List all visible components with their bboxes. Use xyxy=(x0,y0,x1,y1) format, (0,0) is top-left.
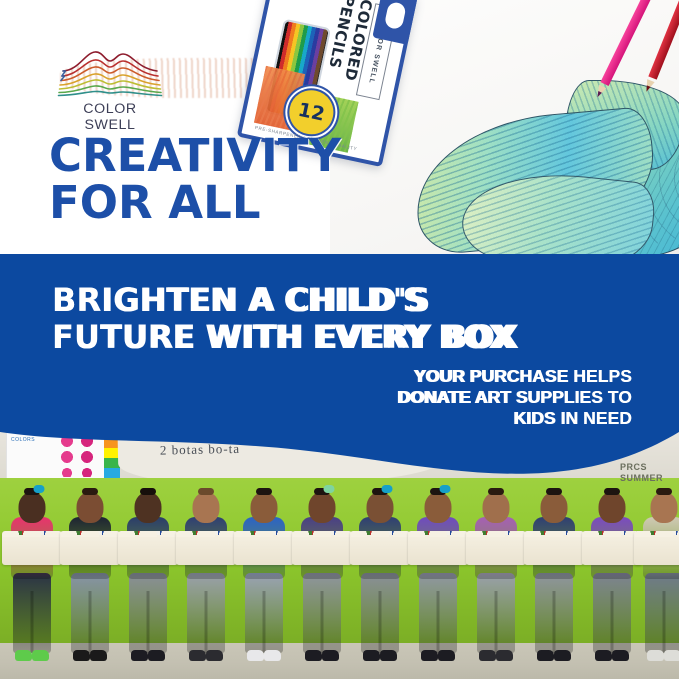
brand-logo: COLOR SWELL xyxy=(57,48,163,133)
leg-gap xyxy=(379,591,382,653)
child-shoe-right xyxy=(554,650,571,661)
supply-kit xyxy=(2,531,62,565)
hero-headline: CREATIVITY FOR ALL xyxy=(49,132,341,226)
child-hair-bow xyxy=(323,485,334,493)
supply-kit xyxy=(466,531,526,565)
banner-headline: BRIGHTEN A CHILD'S FUTURE WITH EVERY BOX xyxy=(52,282,519,356)
hero-headline-line2: FOR ALL xyxy=(49,179,341,226)
child-shoe-right xyxy=(612,650,629,661)
leg-gap xyxy=(495,591,498,653)
leg-gap xyxy=(437,591,440,653)
child-shoe-right xyxy=(496,650,513,661)
tshirt-text: PRCS SUMMER xyxy=(620,462,663,484)
kit-top-edge xyxy=(176,531,236,537)
kit-top-edge xyxy=(234,531,294,537)
kit-top-edge xyxy=(634,531,679,537)
child-head xyxy=(193,492,220,523)
leg-gap xyxy=(263,591,266,653)
child-legs xyxy=(361,573,399,653)
supply-kit xyxy=(582,531,642,565)
child-legs xyxy=(477,573,515,653)
banner-subtext-line2: DONATE ART SUPPLIES TO xyxy=(397,387,632,408)
child-hair xyxy=(488,488,504,495)
supply-kit xyxy=(634,531,679,565)
banner-subtext-line1: YOUR PURCHASE HELPS xyxy=(397,366,632,387)
child-head xyxy=(367,492,394,523)
child-legs xyxy=(535,573,573,653)
child-shoe-left xyxy=(247,650,264,661)
kit-top-edge xyxy=(118,531,178,537)
child-head xyxy=(541,492,568,523)
child-shoe-right xyxy=(90,650,107,661)
poster-label: COLORS xyxy=(11,437,35,443)
child-shoe-left xyxy=(189,650,206,661)
leg-gap xyxy=(205,591,208,653)
supply-kit xyxy=(176,531,236,565)
banner-headline-line2: FUTURE WITH EVERY BOX xyxy=(52,319,519,356)
child-shoe-right xyxy=(664,650,679,661)
supply-kit xyxy=(524,531,584,565)
child-head xyxy=(599,492,626,523)
supply-kit xyxy=(234,531,294,565)
child-head xyxy=(651,492,678,523)
leg-gap xyxy=(89,591,92,653)
child-hair xyxy=(546,488,562,495)
leg-gap xyxy=(321,591,324,653)
child-shoe-right xyxy=(206,650,223,661)
child-legs xyxy=(245,573,283,653)
child-hair xyxy=(82,488,98,495)
banner-subtext-line3: KIDS IN NEED xyxy=(397,408,632,429)
tshirt-text-line1: PRCS xyxy=(620,462,663,473)
kit-top-edge xyxy=(2,531,62,537)
child-shoe-left xyxy=(537,650,554,661)
kit-top-edge xyxy=(524,531,584,537)
kit-top-edge xyxy=(350,531,410,537)
classroom-photo: COLORS 2 botas bo-ta xyxy=(0,430,679,679)
poster-dots xyxy=(57,433,105,477)
child-legs xyxy=(13,573,51,653)
child-shoe-left xyxy=(479,650,496,661)
child-legs xyxy=(645,573,679,653)
supply-kit xyxy=(292,531,352,565)
tshirt-text-line2: SUMMER xyxy=(620,473,663,484)
child-hair xyxy=(256,488,272,495)
box-hang-tab xyxy=(372,0,417,45)
child-shoe-right xyxy=(380,650,397,661)
child-legs xyxy=(303,573,341,653)
product-hero-section: COLOR SWELL COLORED PENCILS 12 PRE-SHARP… xyxy=(0,0,679,256)
child-shoe-right xyxy=(438,650,455,661)
child-shoe-right xyxy=(264,650,281,661)
child-head xyxy=(135,492,162,523)
advertisement-banner: COLOR SWELL COLORED PENCILS 12 PRE-SHARP… xyxy=(0,0,679,679)
box-hang-slot xyxy=(384,1,407,30)
color-swell-wave-mark xyxy=(57,48,163,100)
child-shoe-right xyxy=(32,650,49,661)
wall-poster: COLORS xyxy=(6,430,110,482)
child-shoe-right xyxy=(148,650,165,661)
child-head xyxy=(309,492,336,523)
child-head xyxy=(77,492,104,523)
mission-banner: BRIGHTEN A CHILD'S FUTURE WITH EVERY BOX… xyxy=(0,254,679,459)
kit-top-edge xyxy=(292,531,352,537)
child-legs xyxy=(71,573,109,653)
kit-top-edge xyxy=(60,531,120,537)
child-shoe-left xyxy=(305,650,322,661)
child-shoe-left xyxy=(363,650,380,661)
child-hair xyxy=(140,488,156,495)
child-head xyxy=(251,492,278,523)
child-shoe-left xyxy=(647,650,664,661)
child-shoe-left xyxy=(595,650,612,661)
supply-kit xyxy=(408,531,468,565)
child-head xyxy=(425,492,452,523)
leg-gap xyxy=(663,591,666,653)
child-shoe-left xyxy=(421,650,438,661)
child-hair xyxy=(198,488,214,495)
child-legs xyxy=(129,573,167,653)
leg-gap xyxy=(31,591,34,653)
supply-kit xyxy=(60,531,120,565)
banner-subtext: YOUR PURCHASE HELPS DONATE ART SUPPLIES … xyxy=(397,366,632,429)
child-legs xyxy=(593,573,631,653)
supply-kit xyxy=(118,531,178,565)
child-hair xyxy=(656,488,672,495)
supply-kit xyxy=(350,531,410,565)
leg-gap xyxy=(553,591,556,653)
child-legs xyxy=(187,573,225,653)
kit-top-edge xyxy=(466,531,526,537)
banner-headline-line1: BRIGHTEN A CHILD'S xyxy=(52,281,431,319)
child-legs xyxy=(419,573,457,653)
child-shoe-left xyxy=(15,650,32,661)
child-hair-bow xyxy=(439,485,450,493)
child-hair-bow xyxy=(33,485,44,493)
child-hair-bow xyxy=(381,485,392,493)
whiteboard-text: 2 botas bo-ta xyxy=(160,441,240,459)
leg-gap xyxy=(147,591,150,653)
kit-top-edge xyxy=(582,531,642,537)
hero-headline-line1: CREATIVITY xyxy=(49,129,341,182)
child-head xyxy=(19,492,46,523)
child-shoe-left xyxy=(73,650,90,661)
child-shoe-right xyxy=(322,650,339,661)
child-head xyxy=(483,492,510,523)
child-hair xyxy=(604,488,620,495)
kit-top-edge xyxy=(408,531,468,537)
leg-gap xyxy=(611,591,614,653)
child-shoe-left xyxy=(131,650,148,661)
